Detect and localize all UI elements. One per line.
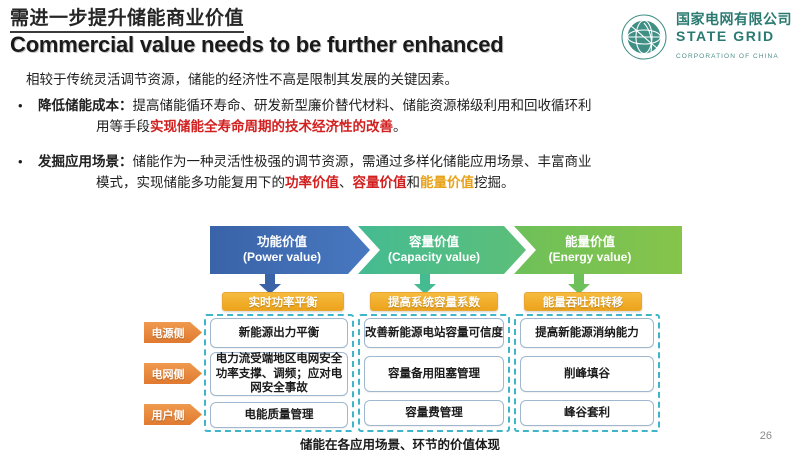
banner-capacity-value: 容量价值 (Capacity value) bbox=[358, 226, 526, 274]
bullet-text-2-line1: 储能作为一种灵活性极强的调节资源，需通过多样化储能应用场景、丰富商业 bbox=[133, 154, 592, 169]
cell-capacity-user: 容量费管理 bbox=[364, 400, 504, 426]
banner-power-value: 功能价值 (Power value) bbox=[210, 226, 370, 274]
state-grid-logo: 国家电网有限公司 STATE GRID CORPORATION OF CHINA bbox=[620, 12, 792, 62]
logo-company-name-zh: 国家电网有限公司 bbox=[676, 11, 792, 27]
gold-box-capacity-factor: 提高系统容量系数 bbox=[370, 292, 498, 311]
cell-energy-grid: 削峰填谷 bbox=[520, 356, 654, 392]
bullet-body-2: 发掘应用场景：储能作为一种灵活性极强的调节资源，需通过多样化储能应用场景、丰富商… bbox=[18, 154, 788, 194]
bullet-text-2-highlight-power: 功率价值 bbox=[285, 175, 339, 190]
banner-power-value-en: (Power value) bbox=[243, 250, 321, 265]
bullet-item-2: • 发掘应用场景：储能作为一种灵活性极强的调节资源，需通过多样化储能应用场景、丰… bbox=[18, 152, 788, 194]
banner-capacity-value-en: (Capacity value) bbox=[388, 250, 480, 265]
bullet-text-1-highlight: 实现储能全寿命周期的技术经济性的改善 bbox=[150, 119, 393, 134]
state-grid-globe-icon bbox=[620, 13, 668, 61]
page-title-en: Commercial value needs to be further enh… bbox=[10, 32, 503, 58]
bullet-body-1: 降低储能成本：提高储能循环寿命、研发新型廉价替代材料、储能资源梯级利用和回收循环… bbox=[18, 98, 788, 138]
banner-energy-value: 能量价值 (Energy value) bbox=[514, 226, 682, 274]
bullet-text-1-line1: 提高储能循环寿命、研发新型廉价替代材料、储能资源梯级利用和回收循环利 bbox=[133, 98, 592, 113]
bullet-label-2: 发掘应用场景 bbox=[38, 154, 119, 169]
cell-energy-user: 峰谷套利 bbox=[520, 400, 654, 426]
gold-box-realtime-power-balance: 实时功率平衡 bbox=[222, 292, 344, 311]
banner-energy-value-zh: 能量价值 bbox=[565, 235, 615, 251]
bullet-text-2-b: 、 bbox=[339, 175, 353, 190]
bullet-text-2-line2: 模式，实现储能多功能复用下的功率价值、容量价值和能量价值挖掘。 bbox=[96, 173, 788, 194]
logo-company-subtitle-en: CORPORATION OF CHINA bbox=[676, 53, 779, 60]
down-arrow-icon-capacity bbox=[414, 274, 436, 294]
cell-power-user: 电能质量管理 bbox=[210, 402, 348, 428]
bullet-label-1: 降低储能成本 bbox=[38, 98, 119, 113]
bullet-text-2-c: 和 bbox=[407, 175, 421, 190]
value-banner-row: 功能价值 (Power value) 容量价值 (Capacity value)… bbox=[210, 226, 682, 274]
bullet-text-1-line2-plain: 用等手段 bbox=[96, 119, 150, 134]
bullet-marker-2: • bbox=[18, 152, 23, 172]
side-tag-generation: 电源侧 bbox=[144, 322, 202, 343]
bullet-item-1: • 降低储能成本：提高储能循环寿命、研发新型廉价替代材料、储能资源梯级利用和回收… bbox=[18, 96, 788, 138]
bullet-text-2-a: 模式，实现储能多功能复用下的 bbox=[96, 175, 285, 190]
bullet-colon-1: ： bbox=[119, 98, 133, 113]
slide-canvas: 需进一步提升储能商业价值 Commercial value needs to b… bbox=[0, 0, 800, 450]
side-tag-grid: 电网侧 bbox=[144, 363, 202, 384]
page-title-zh: 需进一步提升储能商业价值 bbox=[10, 8, 244, 33]
bullet-text-2-d: 挖掘。 bbox=[474, 175, 515, 190]
down-arrow-icon-power bbox=[259, 274, 281, 294]
lead-paragraph: 相较于传统灵活调节资源，储能的经济性不高是限制其发展的关键因素。 bbox=[26, 70, 458, 90]
cell-capacity-generation: 改善新能源电站容量可信度 bbox=[364, 318, 504, 348]
bullet-text-2-highlight-capacity: 容量价值 bbox=[353, 175, 407, 190]
value-diagram: 功能价值 (Power value) 容量价值 (Capacity value)… bbox=[0, 222, 800, 450]
cell-energy-generation: 提高新能源消纳能力 bbox=[520, 318, 654, 348]
banner-capacity-value-zh: 容量价值 bbox=[409, 235, 459, 251]
bullet-text-1-line2: 用等手段实现储能全寿命周期的技术经济性的改善。 bbox=[96, 117, 788, 138]
cell-power-generation: 新能源出力平衡 bbox=[210, 318, 348, 348]
down-arrow-icon-energy bbox=[568, 274, 590, 294]
cell-power-grid: 电力流受端地区电网安全功率支撑、调频；应对电网安全事故 bbox=[210, 352, 348, 396]
cell-capacity-grid: 容量备用阻塞管理 bbox=[364, 356, 504, 392]
bullet-colon-2: ： bbox=[119, 154, 133, 169]
bullet-text-2-highlight-energy: 能量价值 bbox=[420, 175, 474, 190]
banner-power-value-zh: 功能价值 bbox=[257, 235, 307, 251]
logo-company-name-en: STATE GRID bbox=[676, 28, 775, 44]
banner-energy-value-en: (Energy value) bbox=[549, 250, 632, 265]
page-number: 26 bbox=[760, 430, 772, 442]
gold-box-energy-throughput: 能量吞吐和转移 bbox=[524, 292, 642, 311]
side-tag-user: 用户侧 bbox=[144, 404, 202, 425]
bullet-text-1-line2-end: 。 bbox=[393, 119, 407, 134]
diagram-caption: 储能在各应用场景、环节的价值体现 bbox=[0, 434, 800, 450]
bullet-marker-1: • bbox=[18, 96, 23, 116]
